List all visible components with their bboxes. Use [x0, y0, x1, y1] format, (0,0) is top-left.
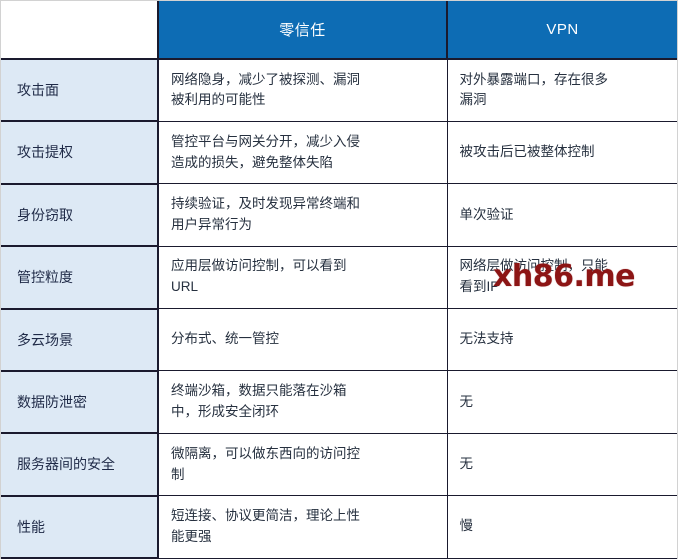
- cell-text-line: 网络隐身，减少了被探测、漏洞: [171, 70, 437, 91]
- row-zero-trust-cell: 微隔离，可以做东西向的访问控制: [158, 433, 447, 495]
- row-label-cell: 性能: [1, 496, 158, 558]
- table-row: 服务器间的安全微隔离，可以做东西向的访问控制无: [1, 433, 677, 495]
- zero-trust-vs-vpn-comparison-table: 零信任 VPN 攻击面网络隐身，减少了被探测、漏洞被利用的可能性对外暴露端口，存…: [0, 0, 678, 559]
- row-zero-trust-cell: 短连接、协议更简洁，理论上性能更强: [158, 496, 447, 558]
- table-body: 攻击面网络隐身，减少了被探测、漏洞被利用的可能性对外暴露端口，存在很多漏洞攻击提…: [1, 59, 677, 558]
- cell-text-line: 终端沙箱，数据只能落在沙箱: [171, 381, 437, 402]
- cell-text-line: 对外暴露端口，存在很多: [460, 70, 668, 91]
- cell-text-line: 微隔离，可以做东西向的访问控: [171, 444, 437, 465]
- table-row: 多云场景分布式、统一管控无法支持: [1, 309, 677, 371]
- row-vpn-cell: 单次验证: [447, 184, 677, 246]
- table-row: 攻击提权管控平台与网关分开，减少入侵造成的损失，避免整体失陷被攻击后已被整体控制: [1, 121, 677, 183]
- header-cell-vpn: VPN: [447, 1, 677, 59]
- table-row: 管控粒度应用层做访问控制，可以看到URL网络层做访问控制，只能看到IP: [1, 246, 677, 308]
- table-row: 身份窃取持续验证，及时发现异常终端和用户异常行为单次验证: [1, 184, 677, 246]
- row-label-cell: 身份窃取: [1, 184, 158, 246]
- table-header-row: 零信任 VPN: [1, 1, 677, 59]
- cell-text-line: URL: [171, 277, 437, 298]
- row-label-cell: 服务器间的安全: [1, 433, 158, 495]
- cell-text-line: 能更强: [171, 527, 437, 548]
- row-zero-trust-cell: 应用层做访问控制，可以看到URL: [158, 246, 447, 308]
- row-label-cell: 管控粒度: [1, 246, 158, 308]
- cell-text-line: 制: [171, 465, 437, 486]
- row-zero-trust-cell: 终端沙箱，数据只能落在沙箱中，形成安全闭环: [158, 371, 447, 433]
- cell-text-line: 单次验证: [460, 205, 668, 226]
- row-vpn-cell: 无法支持: [447, 309, 677, 371]
- row-vpn-cell: 无: [447, 371, 677, 433]
- cell-text-line: 中，形成安全闭环: [171, 402, 437, 423]
- row-vpn-cell: 慢: [447, 496, 677, 558]
- cell-text-line: 持续验证，及时发现异常终端和: [171, 194, 437, 215]
- cell-text-line: 无: [460, 454, 668, 475]
- table-header: 零信任 VPN: [1, 1, 677, 59]
- table-row: 性能短连接、协议更简洁，理论上性能更强慢: [1, 496, 677, 558]
- cell-text-line: 被攻击后已被整体控制: [460, 142, 668, 163]
- cell-text-line: 无: [460, 392, 668, 413]
- cell-text-line: 短连接、协议更简洁，理论上性: [171, 506, 437, 527]
- cell-text-line: 无法支持: [460, 329, 668, 350]
- header-cell-zero-trust: 零信任: [158, 1, 447, 59]
- table-row: 攻击面网络隐身，减少了被探测、漏洞被利用的可能性对外暴露端口，存在很多漏洞: [1, 59, 677, 121]
- row-label-cell: 数据防泄密: [1, 371, 158, 433]
- row-vpn-cell: 网络层做访问控制，只能看到IP: [447, 246, 677, 308]
- row-zero-trust-cell: 管控平台与网关分开，减少入侵造成的损失，避免整体失陷: [158, 121, 447, 183]
- cell-text-line: 应用层做访问控制，可以看到: [171, 256, 437, 277]
- comparison-table-grid: 零信任 VPN 攻击面网络隐身，减少了被探测、漏洞被利用的可能性对外暴露端口，存…: [1, 1, 677, 559]
- row-zero-trust-cell: 网络隐身，减少了被探测、漏洞被利用的可能性: [158, 59, 447, 121]
- table-row: 数据防泄密终端沙箱，数据只能落在沙箱中，形成安全闭环无: [1, 371, 677, 433]
- row-vpn-cell: 无: [447, 433, 677, 495]
- cell-text-line: 分布式、统一管控: [171, 329, 437, 350]
- cell-text-line: 漏洞: [460, 90, 668, 111]
- row-zero-trust-cell: 持续验证，及时发现异常终端和用户异常行为: [158, 184, 447, 246]
- cell-text-line: 管控平台与网关分开，减少入侵: [171, 132, 437, 153]
- row-label-cell: 多云场景: [1, 309, 158, 371]
- cell-text-line: 造成的损失，避免整体失陷: [171, 153, 437, 174]
- cell-text-line: 看到IP: [460, 277, 668, 298]
- cell-text-line: 被利用的可能性: [171, 90, 437, 111]
- cell-text-line: 用户异常行为: [171, 215, 437, 236]
- cell-text-line: 慢: [460, 516, 668, 537]
- row-vpn-cell: 对外暴露端口，存在很多漏洞: [447, 59, 677, 121]
- header-cell-blank: [1, 1, 158, 59]
- row-vpn-cell: 被攻击后已被整体控制: [447, 121, 677, 183]
- row-label-cell: 攻击提权: [1, 121, 158, 183]
- cell-text-line: 网络层做访问控制，只能: [460, 256, 668, 277]
- row-zero-trust-cell: 分布式、统一管控: [158, 309, 447, 371]
- row-label-cell: 攻击面: [1, 59, 158, 121]
